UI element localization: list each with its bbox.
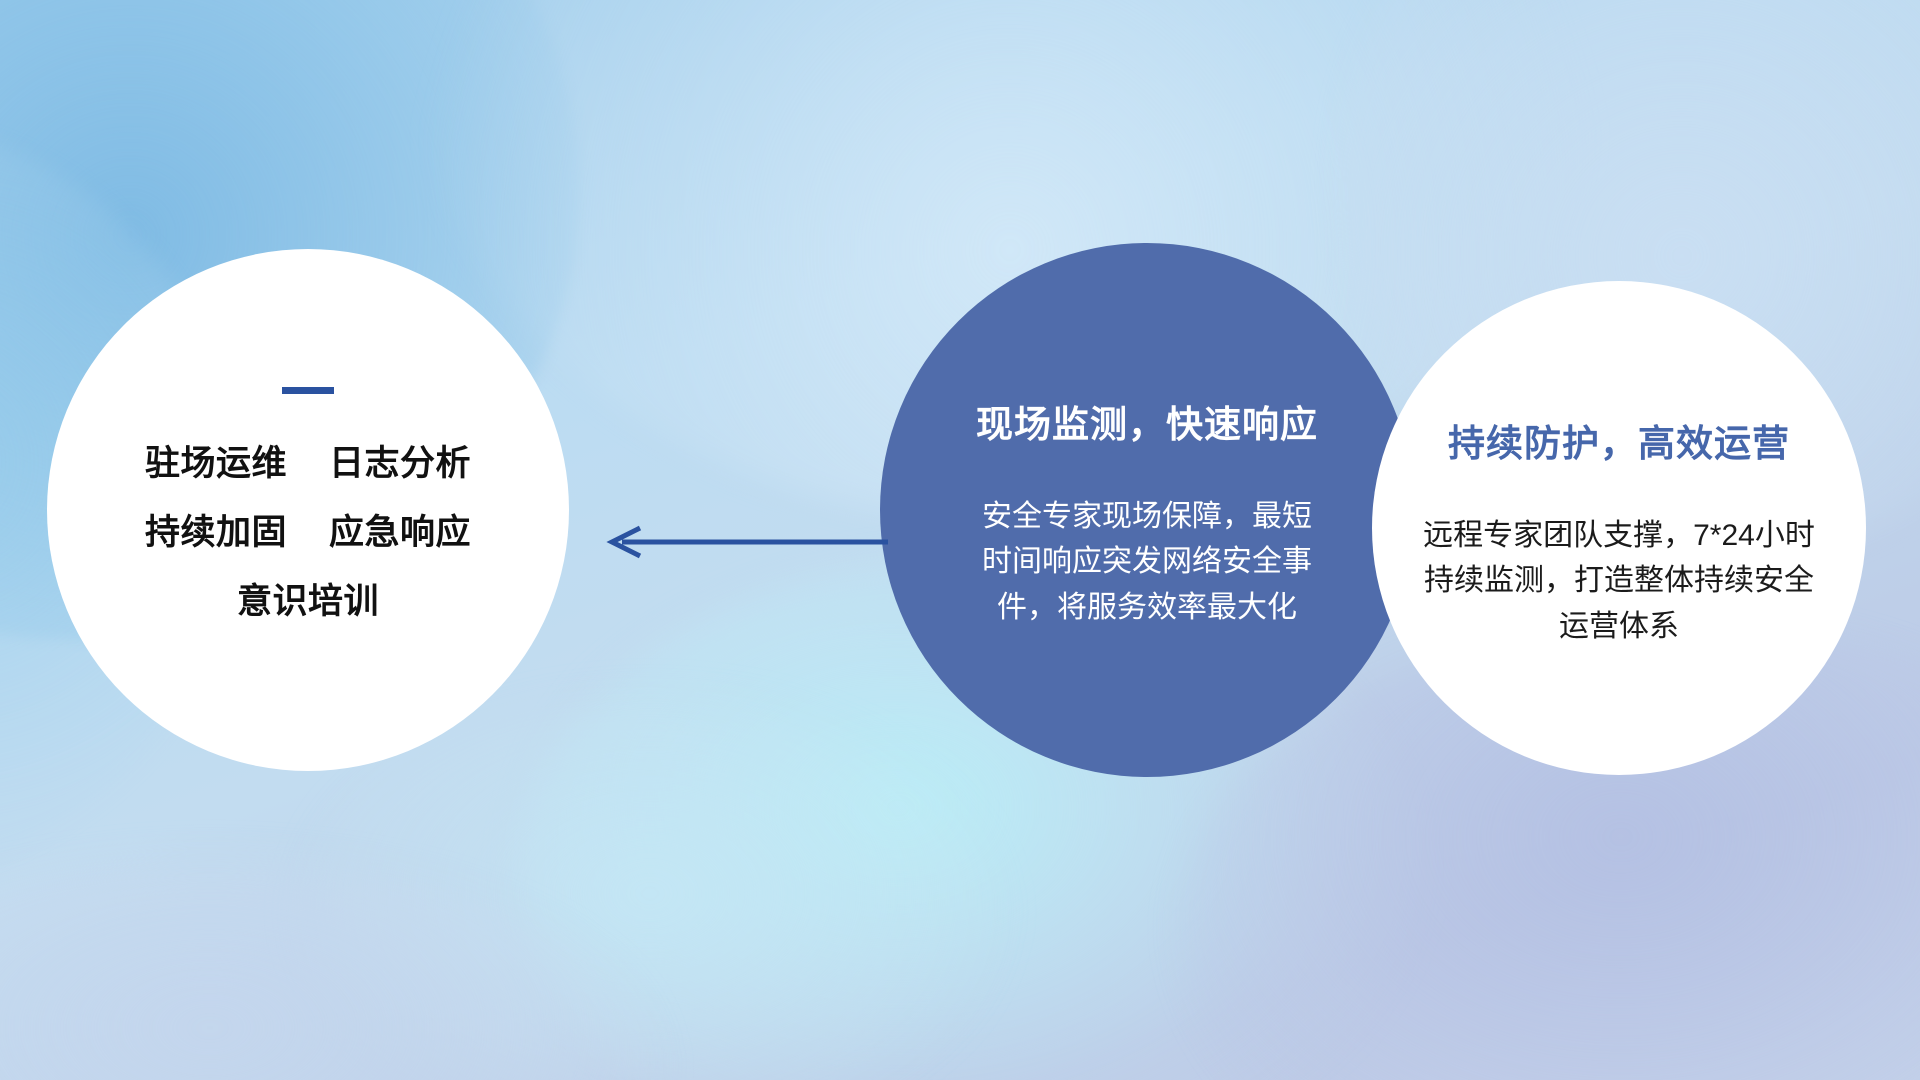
continuous-protection-title: 持续防护，高效运营 (1448, 413, 1790, 467)
continuous-protection-circle[interactable]: 持续防护，高效运营 远程专家团队支撑，7*24小时持续监测，打造整体持续安全运营… (1372, 281, 1866, 775)
horizontal-dash-icon (282, 387, 334, 394)
arrow-icon (600, 520, 890, 564)
slide-canvas: 驻场运维 日志分析 持续加固 应急响应 意识培训 现场监测，快速响应 安全专家现… (0, 0, 1920, 1080)
capabilities-circle[interactable]: 驻场运维 日志分析 持续加固 应急响应 意识培训 (47, 249, 569, 771)
capability-row-3: 意识培训 (237, 584, 379, 619)
onsite-monitoring-body: 安全专家现场保障，最短时间响应突发网络安全事件，将服务效率最大化 (982, 494, 1312, 631)
capability-tag: 日志分析 (329, 446, 471, 481)
background-glow-cyan-lower (300, 700, 1000, 1080)
capability-tag: 持续加固 (145, 515, 287, 550)
capability-row-1: 驻场运维 日志分析 (145, 446, 471, 481)
continuous-protection-body: 远程专家团队支撑，7*24小时持续监测，打造整体持续安全运营体系 (1419, 513, 1819, 650)
onsite-monitoring-title: 现场监测，快速响应 (976, 394, 1318, 448)
capability-tag: 应急响应 (329, 515, 471, 550)
left-pointing-arrow (600, 520, 890, 564)
onsite-monitoring-circle[interactable]: 现场监测，快速响应 安全专家现场保障，最短时间响应突发网络安全事件，将服务效率最… (880, 243, 1414, 777)
capability-tag: 驻场运维 (145, 446, 287, 481)
capability-tag: 意识培训 (237, 584, 379, 619)
background-blob-bottom-left (0, 860, 660, 1080)
capability-row-2: 持续加固 应急响应 (145, 515, 471, 550)
capabilities-content: 驻场运维 日志分析 持续加固 应急响应 意识培训 (145, 387, 471, 619)
